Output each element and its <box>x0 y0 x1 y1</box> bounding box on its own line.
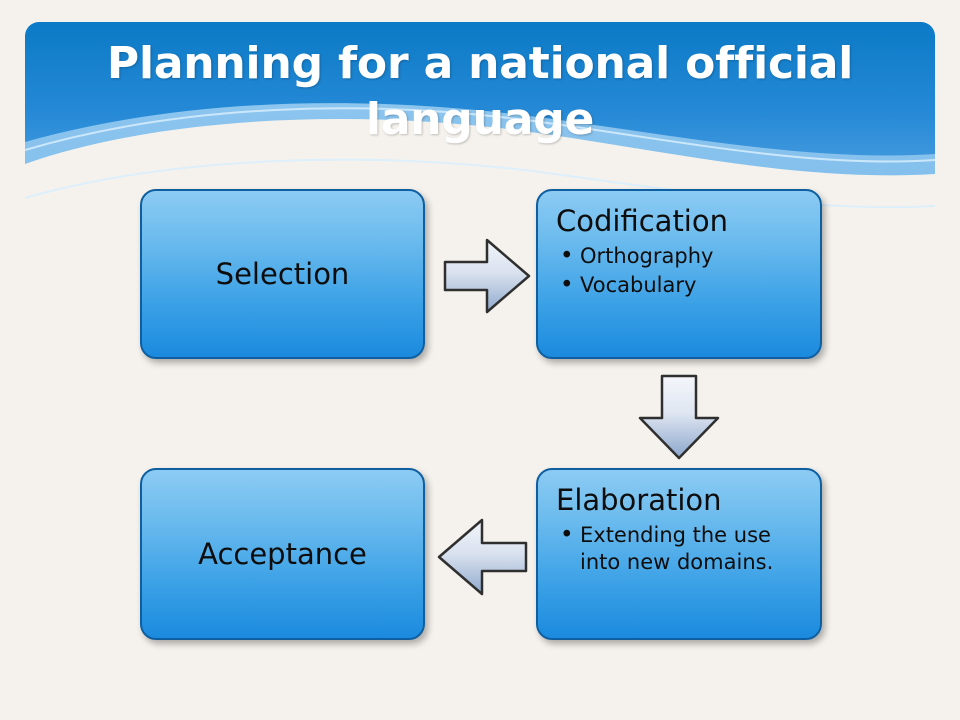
bullet-item: Extending the use into new domains. <box>556 522 804 575</box>
bullet-item: Vocabulary <box>556 272 804 298</box>
arrow-down-icon <box>634 372 724 462</box>
page-title: Planning for a national official languag… <box>60 36 900 149</box>
arrow-left-icon <box>434 515 530 599</box>
slide-canvas: Planning for a national official languag… <box>0 0 960 720</box>
bullet-item: Orthography <box>556 243 804 269</box>
process-box-elaboration[interactable]: Elaboration Extending the use into new d… <box>536 468 822 640</box>
bullet-list: Orthography Vocabulary <box>556 243 804 298</box>
arrow-right-icon <box>441 235 533 317</box>
process-box-title: Acceptance <box>198 537 367 571</box>
process-box-title: Codification <box>556 205 804 237</box>
process-box-codification[interactable]: Codification Orthography Vocabulary <box>536 189 822 359</box>
process-box-title: Elaboration <box>556 484 804 516</box>
process-box-title: Selection <box>216 257 350 291</box>
process-box-acceptance[interactable]: Acceptance <box>140 468 425 640</box>
process-box-selection[interactable]: Selection <box>140 189 425 359</box>
bullet-list: Extending the use into new domains. <box>556 522 804 575</box>
